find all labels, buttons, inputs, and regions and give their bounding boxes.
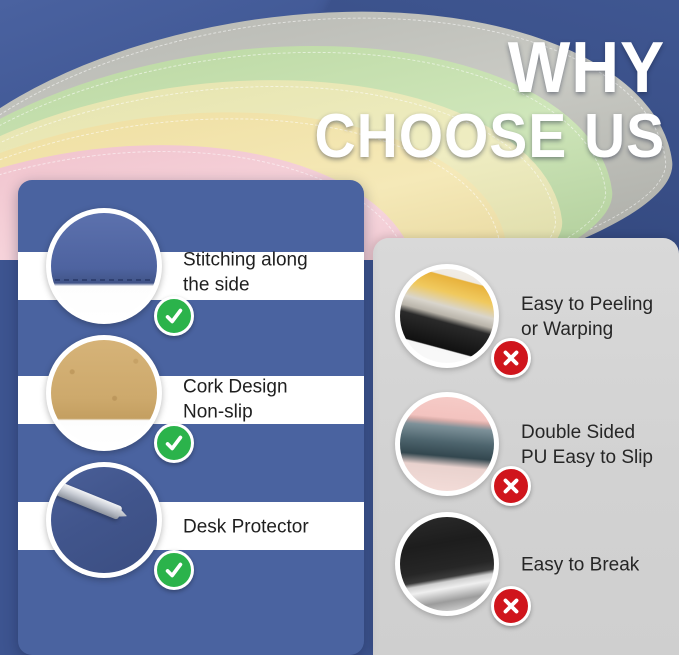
cons-label-line-2: or Warping [521,317,673,342]
pros-label-line-1: Desk Protector [183,514,353,539]
pros-label-line-2: Non-slip [183,400,353,425]
headline-line-2: CHOOSE US [314,108,665,167]
desk-mat-image [51,467,157,573]
cons-label-break: Easy to Break [521,552,673,577]
cons-label-line-1: Double Sided [521,420,673,445]
cons-thumbnail-peeling [395,264,499,368]
thumbnail-image [51,467,157,573]
infographic-canvas: WHY CHOOSE US Easy to Peeling or Warping [0,0,679,655]
cracked-material-image [400,517,494,611]
cons-item-slip: Double Sided PU Easy to Slip [373,386,679,504]
pros-label-line-1: Cork Design [183,375,353,400]
cross-icon [491,338,531,378]
peeling-warping-image [400,269,494,363]
pros-label-line-2: the side [183,273,353,298]
thumbnail-image [400,269,494,363]
double-sided-pu-image [400,397,494,491]
pros-thumbnail-stitching [46,208,162,324]
pen-icon [51,478,123,520]
stitched-edge-image [51,213,157,319]
thumbnail-image [400,397,494,491]
cons-label-line-1: Easy to Break [521,552,673,577]
cons-label-line-2: PU Easy to Slip [521,445,673,470]
headline-line-1: WHY [314,34,665,102]
pros-label-cork: Cork Design Non-slip [183,375,353,426]
cons-item-break: Easy to Break [373,506,679,624]
pros-label-stitching: Stitching along the side [183,248,353,299]
cross-icon [491,586,531,626]
cross-icon [491,466,531,506]
pros-label-desk-protector: Desk Protector [183,514,353,539]
cons-thumbnail-slip [395,392,499,496]
pros-item-desk-protector: Desk Protector [18,452,364,602]
check-icon [154,550,194,590]
thumbnail-image [51,213,157,319]
pros-thumbnail-cork [46,335,162,451]
cons-panel: Easy to Peeling or Warping Double Sided … [373,238,679,655]
cons-label-peeling: Easy to Peeling or Warping [521,292,673,342]
cons-label-line-1: Easy to Peeling [521,292,673,317]
cons-label-slip: Double Sided PU Easy to Slip [521,420,673,470]
cork-texture-image [51,340,157,446]
pros-panel: Stitching along the side Cork Design Non… [18,180,364,655]
thumbnail-image [51,340,157,446]
pros-label-line-1: Stitching along [183,248,353,273]
cons-item-peeling: Easy to Peeling or Warping [373,258,679,376]
pros-thumbnail-desk-protector [46,462,162,578]
headline: WHY CHOOSE US [284,34,665,167]
thumbnail-image [400,517,494,611]
cons-thumbnail-break [395,512,499,616]
